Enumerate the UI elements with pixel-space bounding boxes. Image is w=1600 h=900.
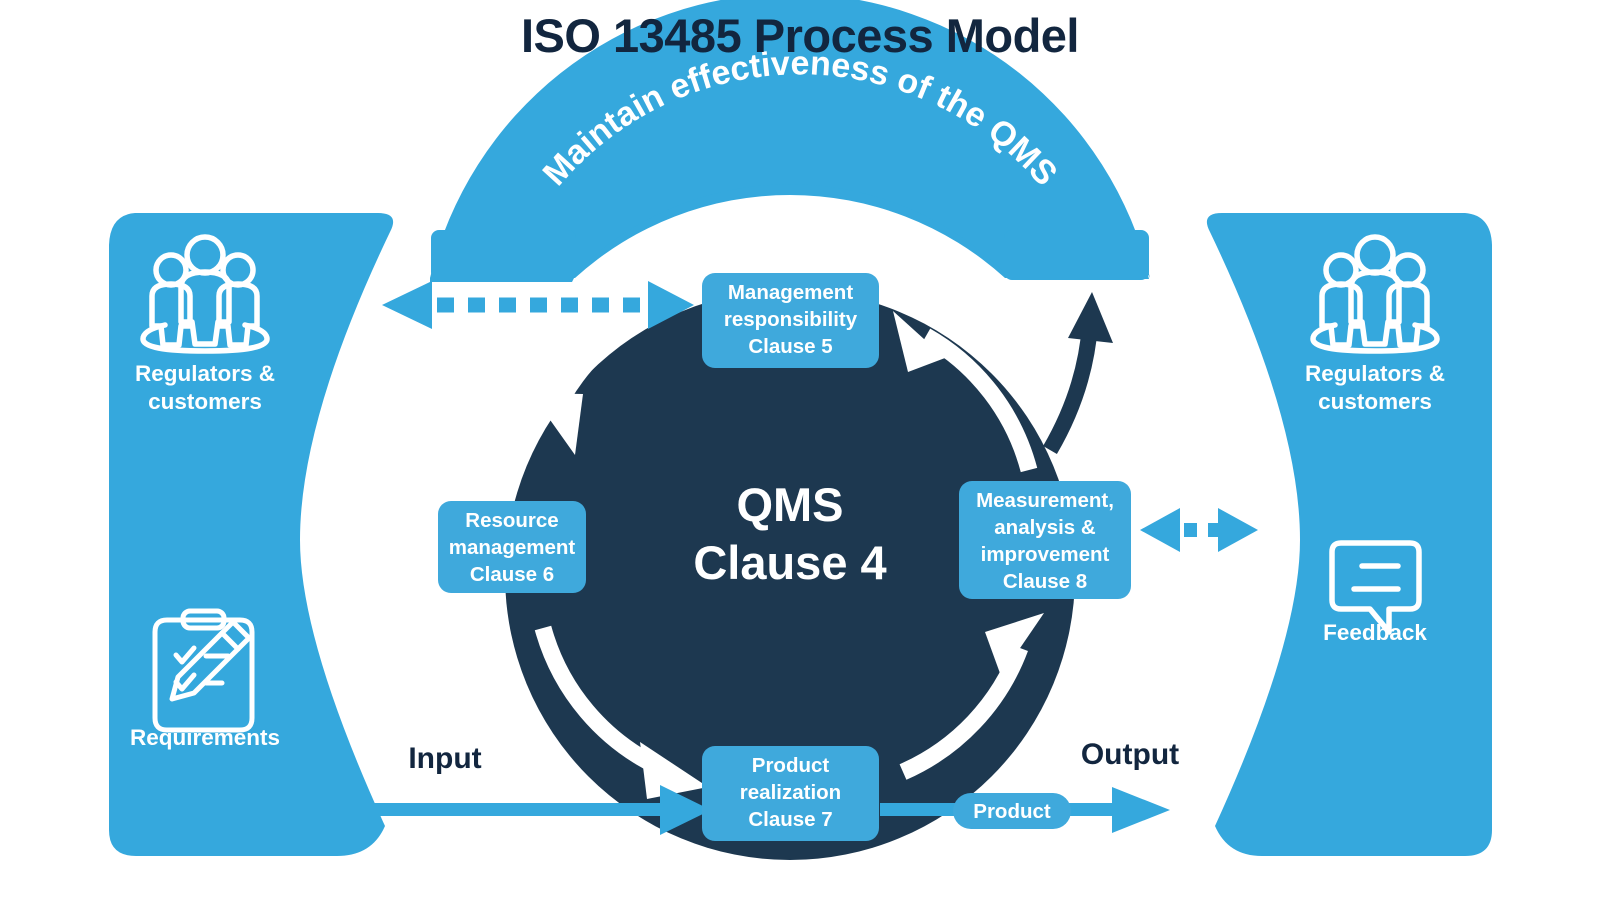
qms-center-label: QMS Clause 4 bbox=[640, 476, 940, 592]
box-line: Clause 5 bbox=[702, 333, 879, 360]
arc-left-cap bbox=[431, 230, 576, 280]
diagram-canvas: Maintain effectiveness of the QMS bbox=[0, 0, 1600, 900]
box-line: Resource bbox=[434, 507, 590, 534]
resource-management-label: Resource management Clause 6 bbox=[434, 507, 590, 588]
label-line: Regulators & bbox=[110, 360, 300, 388]
box-line: Clause 6 bbox=[434, 561, 590, 588]
left-panel-top-label: Regulators & customers bbox=[110, 360, 300, 416]
box-line: Product bbox=[702, 752, 879, 779]
box-line: Measurement, bbox=[955, 487, 1135, 514]
management-responsibility-label: Management responsibility Clause 5 bbox=[702, 279, 879, 360]
dashed-arrow-right bbox=[1140, 508, 1258, 552]
label-line: customers bbox=[110, 388, 300, 416]
box-line: analysis & bbox=[955, 514, 1135, 541]
arrow-to-maintain-effectiveness bbox=[1050, 292, 1113, 450]
output-label: Output bbox=[1030, 738, 1230, 772]
box-line: responsibility bbox=[702, 306, 879, 333]
qms-center-line2: Clause 4 bbox=[640, 534, 940, 592]
box-line: Clause 8 bbox=[955, 568, 1135, 595]
product-realization-label: Product realization Clause 7 bbox=[702, 752, 879, 833]
input-label: Input bbox=[345, 742, 545, 776]
box-line: Management bbox=[702, 279, 879, 306]
measurement-analysis-improvement-label: Measurement, analysis & improvement Clau… bbox=[955, 487, 1135, 595]
box-line: realization bbox=[702, 779, 879, 806]
right-panel-top-label: Regulators & customers bbox=[1280, 360, 1470, 416]
box-line: improvement bbox=[955, 541, 1135, 568]
box-line: management bbox=[434, 534, 590, 561]
page-title: ISO 13485 Process Model bbox=[0, 8, 1600, 63]
label-line: customers bbox=[1280, 388, 1470, 416]
label-line: Regulators & bbox=[1280, 360, 1470, 388]
arc-right-cap bbox=[1004, 230, 1149, 280]
product-label: Product bbox=[953, 800, 1071, 824]
box-line: Clause 7 bbox=[702, 806, 879, 833]
left-panel-bottom-label: Requirements bbox=[105, 725, 305, 751]
qms-center-line1: QMS bbox=[640, 476, 940, 534]
right-panel-bottom-label: Feedback bbox=[1280, 620, 1470, 646]
